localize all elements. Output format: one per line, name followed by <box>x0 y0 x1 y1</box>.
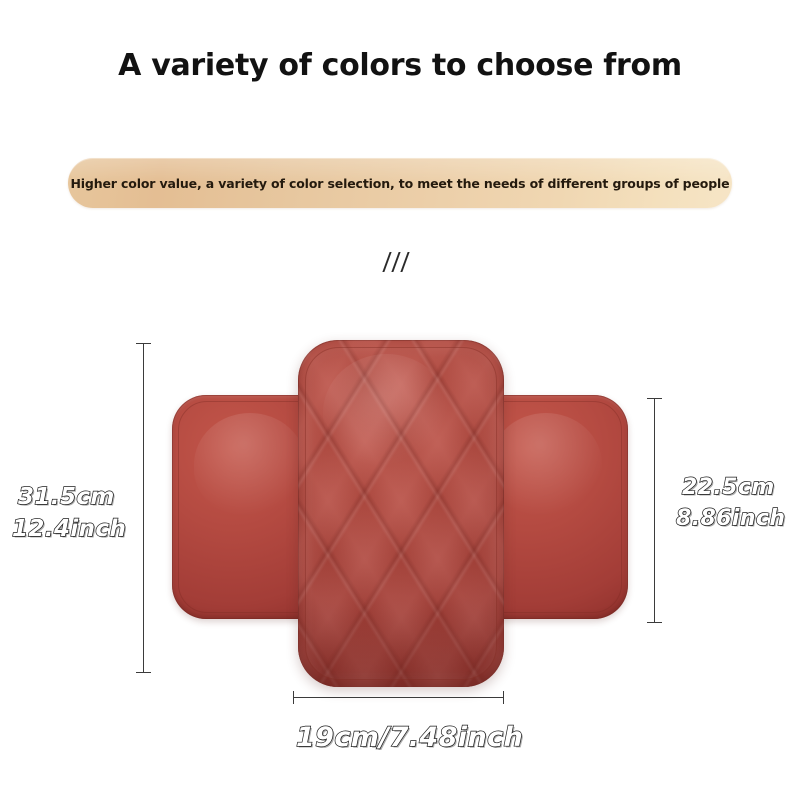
slash-mark-1 <box>382 252 391 272</box>
measure-cap-right-top <box>647 398 662 399</box>
three-slashes-icon <box>383 252 423 274</box>
slash-mark-3 <box>400 252 409 272</box>
quilt-puff-shading <box>298 340 504 687</box>
measure-cap-right-bottom <box>647 622 662 623</box>
measure-line-right <box>654 398 655 622</box>
dimension-right-cm: 22.5cm <box>682 475 775 500</box>
right-panel-highlight <box>490 413 602 516</box>
dimension-right-inch: 8.86inch <box>676 506 785 531</box>
dimension-left-inch: 12.4inch <box>12 516 126 542</box>
measure-cap-bottom-left <box>293 691 294 704</box>
page-title: A variety of colors to choose from <box>0 48 800 83</box>
product-image <box>150 325 650 695</box>
measure-cap-left-bottom <box>136 672 151 673</box>
measure-line-bottom <box>293 697 503 698</box>
subtitle-banner: Higher color value, a variety of color s… <box>68 158 732 208</box>
product-center-quilted-panel <box>298 340 504 687</box>
measure-cap-left-top <box>136 343 151 344</box>
measure-line-left <box>143 343 144 672</box>
dimension-left-cm: 31.5cm <box>18 484 115 510</box>
left-panel-highlight <box>194 413 306 516</box>
banner-text: Higher color value, a variety of color s… <box>68 158 732 208</box>
slash-mark-2 <box>391 252 400 272</box>
measure-cap-bottom-right <box>503 691 504 704</box>
dimension-bottom-combined: 19cm/7.48inch <box>296 722 523 753</box>
